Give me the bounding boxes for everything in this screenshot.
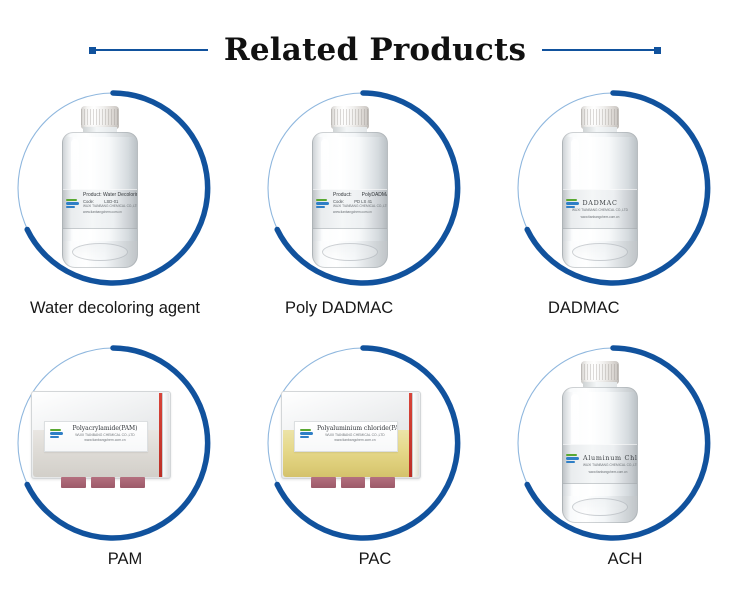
bottle-shape: Product: PolyDADMAC Code: PD LS 41 WUXI … <box>312 106 388 268</box>
product-image-bottle: DADMAC WUXI TIANBANG CHEMICAL CO.,LTD ww… <box>500 88 700 288</box>
bag-seal-strip <box>412 393 419 477</box>
label-product-line: Product: Water Decoloring Agent <box>83 193 133 199</box>
product-caption: PAC <box>250 550 500 569</box>
bottle-cap <box>581 106 619 129</box>
powder-bag-shape: Polyacrylamide(PAM) WUXI TIANBANG CHEMIC… <box>31 391 171 491</box>
company-logo-icon <box>316 199 329 210</box>
product-card-dadmac[interactable]: DADMAC WUXI TIANBANG CHEMICAL CO.,LTD ww… <box>500 88 750 343</box>
label-website: www.tianbangchem.com.cn <box>83 210 133 216</box>
bottle-label: Product: PolyDADMAC Code: PD LS 41 WUXI … <box>312 189 388 229</box>
product-caption: Water decoloring agent <box>0 299 280 318</box>
bottle-cap <box>81 106 119 129</box>
company-logo-icon <box>566 454 579 465</box>
bottle-base <box>322 243 378 261</box>
bottle-label: DADMAC WUXI TIANBANG CHEMICAL CO.,LTD ww… <box>562 189 638 229</box>
label-company: WUXI TIANBANG CHEMICAL CO.,LTD <box>583 463 633 469</box>
label-product-line: Polyacrylamide(PAM) <box>67 426 143 431</box>
bottle-label: Aluminum Chlorohydrate WUXI TIANBANG CHE… <box>562 444 638 484</box>
product-grid: Product: Water Decoloring Agent Code: LS… <box>0 88 750 588</box>
page-title: Related Products <box>208 35 542 66</box>
bag-bottom-tabs <box>311 477 395 488</box>
product-card-water-decoloring-agent[interactable]: Product: Water Decoloring Agent Code: LS… <box>0 88 250 343</box>
bottle-label: Product: Water Decoloring Agent Code: LS… <box>62 189 138 229</box>
bottle-cap <box>581 361 619 384</box>
product-card-poly-dadmac[interactable]: Product: PolyDADMAC Code: PD LS 41 WUXI … <box>250 88 500 343</box>
bottle-base <box>572 243 628 261</box>
company-logo-icon <box>50 429 63 440</box>
header-rule-right <box>542 47 661 54</box>
bag-seal-red-line <box>409 393 412 477</box>
label-website: www.tianbangchem.com.cn <box>317 438 393 443</box>
label-product-value: PolyDADMAC <box>362 193 388 199</box>
label-website: www.tianbangchem.com.cn <box>67 438 143 443</box>
product-caption: ACH <box>500 550 750 569</box>
label-website: www.tianbangchem.com.cn <box>583 470 633 476</box>
section-header: Related Products <box>0 28 750 72</box>
header-rule-left <box>89 47 208 54</box>
label-product-line: Polyaluminium chloride(PAC) <box>317 426 393 431</box>
product-image-bottle: Product: Water Decoloring Agent Code: LS… <box>0 88 200 288</box>
label-website: www.tianbangchem.com.cn <box>567 215 633 221</box>
bottle-body: Product: PolyDADMAC Code: PD LS 41 WUXI … <box>312 132 388 268</box>
bottle-shape: Product: Water Decoloring Agent Code: LS… <box>62 106 138 268</box>
product-image-bag: Polyaluminium chloride(PAC) WUXI TIANBAN… <box>250 343 450 543</box>
bottle-shape: DADMAC WUXI TIANBANG CHEMICAL CO.,LTD ww… <box>562 106 638 268</box>
product-card-ach[interactable]: Aluminum Chlorohydrate WUXI TIANBANG CHE… <box>500 343 750 588</box>
product-card-pac[interactable]: Polyaluminium chloride(PAC) WUXI TIANBAN… <box>250 343 500 588</box>
label-product-line: DADMAC <box>567 201 633 207</box>
powder-bag-shape: Polyaluminium chloride(PAC) WUXI TIANBAN… <box>281 391 421 491</box>
bottle-shape: Aluminum Chlorohydrate WUXI TIANBANG CHE… <box>562 361 638 523</box>
label-website: www.tianbangchem.com.cn <box>333 210 383 216</box>
bottle-base <box>72 243 128 261</box>
product-image-bag: Polyacrylamide(PAM) WUXI TIANBANG CHEMIC… <box>0 343 200 543</box>
bottle-cap <box>331 106 369 129</box>
product-card-pam[interactable]: Polyacrylamide(PAM) WUXI TIANBANG CHEMIC… <box>0 343 250 588</box>
header-line-left <box>96 49 208 51</box>
label-product-key: Product: <box>333 193 352 199</box>
bottle-body: Product: Water Decoloring Agent Code: LS… <box>62 132 138 268</box>
product-caption: DADMAC <box>500 299 750 318</box>
header-square-right-icon <box>654 47 661 54</box>
bag-seal-strip <box>162 393 169 477</box>
company-logo-icon <box>66 199 79 210</box>
product-image-bottle: Product: PolyDADMAC Code: PD LS 41 WUXI … <box>250 88 450 288</box>
bottle-base <box>572 498 628 516</box>
bag-bottom-tabs <box>61 477 145 488</box>
bag-label: Polyacrylamide(PAM) WUXI TIANBANG CHEMIC… <box>44 421 148 452</box>
label-company: WUXI TIANBANG CHEMICAL CO.,LTD <box>567 208 633 214</box>
company-logo-icon <box>300 429 313 440</box>
product-image-bottle: Aluminum Chlorohydrate WUXI TIANBANG CHE… <box>500 343 700 543</box>
bag-seal-red-line <box>159 393 162 477</box>
bag-label: Polyaluminium chloride(PAC) WUXI TIANBAN… <box>294 421 398 452</box>
product-caption: Poly DADMAC <box>250 299 535 318</box>
label-product-line: Aluminum Chlorohydrate <box>583 456 633 462</box>
product-caption: PAM <box>0 550 250 569</box>
bottle-body: Aluminum Chlorohydrate WUXI TIANBANG CHE… <box>562 387 638 523</box>
header-square-left-icon <box>89 47 96 54</box>
header-line-right <box>542 49 654 51</box>
bottle-body: DADMAC WUXI TIANBANG CHEMICAL CO.,LTD ww… <box>562 132 638 268</box>
